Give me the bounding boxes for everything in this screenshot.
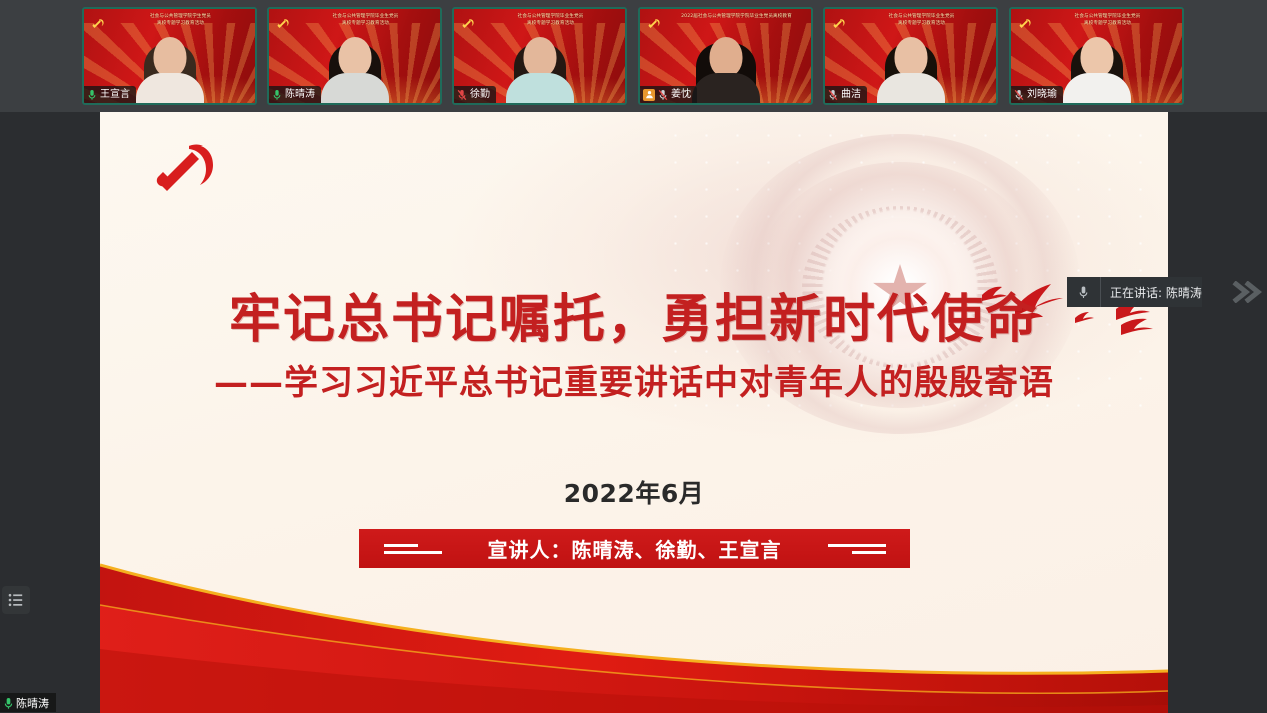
microphone-icon: [1067, 277, 1101, 307]
participant-tile[interactable]: 社会与公共管理学院毕业生党员离校专题学习教育活动 刘晓瑜: [1009, 7, 1184, 105]
participant-tile[interactable]: 2022届社会与公共管理学院学院毕业生党员离校教育 姜忱: [638, 7, 813, 105]
microphone-icon: [272, 89, 282, 101]
self-name-tag: 陈晴涛: [0, 693, 56, 712]
tile-name-bar: 徐勤: [454, 86, 496, 103]
presentation-slide: 牢记总书记嘱托，勇担新时代使命 ——学习习近平总书记重要讲话中对青年人的殷殷寄语…: [100, 112, 1168, 713]
participant-name: 刘晓瑜: [1027, 89, 1057, 101]
tile-name-bar: 姜忱: [640, 86, 697, 103]
participant-video-figure: [509, 31, 571, 103]
active-speaker-label: 正在讲话: 陈晴涛: [1101, 284, 1202, 301]
microphone-muted-icon: [658, 89, 668, 101]
list-menu-icon[interactable]: [2, 586, 30, 614]
participant-name: 陈晴涛: [285, 89, 315, 101]
participant-tile[interactable]: 社会与公共管理学院毕业生党员离校专题学习教育活动 陈晴涛: [267, 7, 442, 105]
microphone-icon: [87, 89, 97, 101]
video-conference-window: 社会与公共管理学院学生党员离校专题学习教育活动 王宣言 社会与公共管理学院毕业生…: [0, 0, 1267, 713]
participant-tile[interactable]: 社会与公共管理学院学生党员离校专题学习教育活动 王宣言: [82, 7, 257, 105]
participant-video-figure: [324, 31, 386, 103]
microphone-muted-icon: [1014, 89, 1024, 101]
slide-date: 2022年6月: [100, 474, 1168, 510]
hammer-and-sickle-icon: [831, 14, 848, 31]
tile-name-bar: 王宣言: [84, 86, 136, 103]
page-title: 牢记总书记嘱托，勇担新时代使命: [100, 290, 1168, 351]
tile-banner-text: 2022届社会与公共管理学院学院毕业生党员离校教育: [666, 13, 807, 20]
active-speaker-indicator: 正在讲话: 陈晴涛: [1067, 277, 1202, 307]
participant-name: 王宣言: [100, 89, 130, 101]
participant-video-figure: [880, 31, 942, 103]
host-person-icon: [643, 89, 655, 101]
hammer-and-sickle-icon: [460, 14, 477, 31]
hammer-and-sickle-icon: [90, 14, 107, 31]
participant-tile[interactable]: 社会与公共管理学院毕业生党员离校专题学习教育活动 徐勤: [452, 7, 627, 105]
participant-video-figure: [695, 31, 757, 103]
participant-video-figure: [1066, 31, 1128, 103]
double-chevron-right-icon[interactable]: [1227, 274, 1267, 310]
microphone-muted-icon: [828, 89, 838, 101]
tile-name-bar: 曲洁: [825, 86, 867, 103]
participant-name: 徐勤: [470, 89, 490, 101]
microphone-muted-icon: [457, 89, 467, 101]
hammer-and-sickle-icon: [275, 14, 292, 31]
page-subtitle: ——学习习近平总书记重要讲话中对青年人的殷殷寄语: [100, 363, 1168, 404]
participant-tile[interactable]: 社会与公共管理学院毕业生党员离校专题学习教育活动 曲洁: [823, 7, 998, 105]
tile-banner-text: 社会与公共管理学院毕业生党员离校专题学习教育活动: [480, 13, 621, 27]
tile-name-bar: 陈晴涛: [269, 86, 321, 103]
tile-banner-text: 社会与公共管理学院学生党员离校专题学习教育活动: [110, 13, 251, 27]
participant-video-figure: [139, 31, 201, 103]
hammer-and-sickle-icon: [1017, 14, 1034, 31]
microphone-icon: [3, 697, 13, 709]
hammer-and-sickle-icon: [646, 14, 663, 31]
self-name-label: 陈晴涛: [16, 695, 49, 711]
participant-name: 姜忱: [671, 89, 691, 101]
slide-title-block: 牢记总书记嘱托，勇担新时代使命 ——学习习近平总书记重要讲话中对青年人的殷殷寄语: [100, 290, 1168, 404]
tile-banner-text: 社会与公共管理学院毕业生党员离校专题学习教育活动: [295, 13, 436, 27]
tile-name-bar: 刘晓瑜: [1011, 86, 1063, 103]
shared-screen-stage: 牢记总书记嘱托，勇担新时代使命 ——学习习近平总书记重要讲话中对青年人的殷殷寄语…: [0, 112, 1267, 713]
hammer-and-sickle-icon: [148, 127, 220, 199]
participant-name: 曲洁: [841, 89, 861, 101]
participant-filmstrip: 社会与公共管理学院学生党员离校专题学习教育活动 王宣言 社会与公共管理学院毕业生…: [0, 0, 1267, 112]
tile-banner-text: 社会与公共管理学院毕业生党员离校专题学习教育活动: [851, 13, 992, 27]
tile-banner-text: 社会与公共管理学院毕业生党员离校专题学习教育活动: [1037, 13, 1178, 27]
red-ribbon-wave: [100, 553, 1168, 713]
